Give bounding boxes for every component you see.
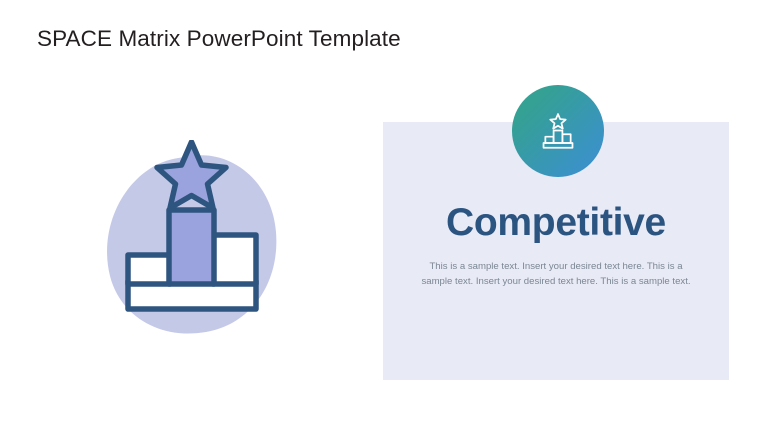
slide-canvas: SPACE Matrix PowerPoint Template xyxy=(0,0,768,432)
podium-left-block xyxy=(128,255,170,284)
podium-star-icon xyxy=(536,109,580,153)
podium-star-illustration xyxy=(100,140,300,350)
panel-heading: Competitive xyxy=(383,200,729,246)
panel-body-text: This is a sample text. Insert your desir… xyxy=(421,259,691,289)
badge-circle xyxy=(512,85,604,177)
podium-right-block xyxy=(213,235,256,284)
podium-center-block xyxy=(169,210,214,284)
page-title: SPACE Matrix PowerPoint Template xyxy=(37,25,401,53)
